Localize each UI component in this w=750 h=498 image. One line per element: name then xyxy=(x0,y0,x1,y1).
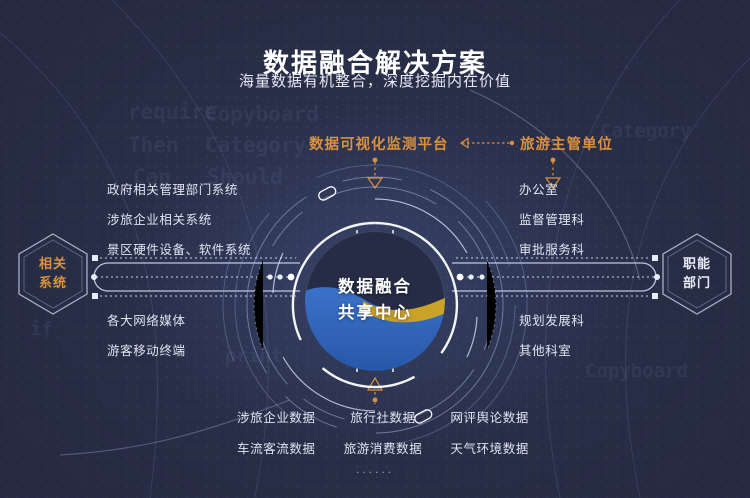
list-right-top: 办公室 监督管理科 审批服务科 xyxy=(519,179,585,269)
list-item[interactable]: 其他科室 xyxy=(519,340,585,359)
hex-badge-functional-departments[interactable]: 职能 部门 xyxy=(660,232,734,316)
list-item[interactable]: 办公室 xyxy=(519,179,585,198)
list-item[interactable]: 旅行社数据 xyxy=(335,407,432,426)
list-item[interactable]: 各大网络媒体 xyxy=(107,310,186,329)
page-subtitle: 海量数据有机整合，深度挖掘内在价值 xyxy=(0,70,750,91)
core-line-2: 共享中心 xyxy=(338,301,412,327)
list-item[interactable]: 政府相关管理部门系统 xyxy=(107,179,251,198)
list-item[interactable]: 车流客流数据 xyxy=(228,438,325,457)
list-item[interactable]: 景区硬件设备、软件系统 xyxy=(107,239,251,258)
list-left-top: 政府相关管理部门系统 涉旅企业相关系统 景区硬件设备、软件系统 xyxy=(107,179,251,269)
bottom-ellipsis: ...... xyxy=(0,462,750,476)
hex-badge-related-systems[interactable]: 相关 系统 xyxy=(16,232,90,316)
label-visualization-platform[interactable]: 数据可视化监测平台 xyxy=(309,133,449,154)
list-item[interactable]: 监督管理科 xyxy=(519,209,585,228)
list-bottom-data-sources: 涉旅企业数据 旅行社数据 网评舆论数据 车流客流数据 旅游消费数据 天气环境数据 xyxy=(228,407,538,457)
list-item[interactable]: 涉旅企业数据 xyxy=(228,407,325,426)
list-left-bottom: 各大网络媒体 游客移动终端 xyxy=(107,310,186,370)
list-item[interactable]: 旅游消费数据 xyxy=(335,438,432,457)
hex-left-line-2: 系统 xyxy=(39,274,67,293)
left-arrow-dotted-icon xyxy=(450,133,516,153)
hex-right-line-2: 部门 xyxy=(683,274,711,293)
core-line-1: 数据融合 xyxy=(338,275,412,301)
list-right-bottom: 规划发展科 其他科室 xyxy=(519,310,585,370)
list-item[interactable]: 涉旅企业相关系统 xyxy=(107,209,251,228)
hex-right-line-1: 职能 xyxy=(683,255,711,274)
list-item[interactable]: 游客移动终端 xyxy=(107,340,186,359)
list-item[interactable]: 规划发展科 xyxy=(519,310,585,329)
hex-left-line-1: 相关 xyxy=(39,255,67,274)
list-item[interactable]: 审批服务科 xyxy=(519,239,585,258)
list-item[interactable]: 网评舆论数据 xyxy=(441,407,538,426)
label-tourism-authority[interactable]: 旅游主管单位 xyxy=(520,133,613,154)
list-item[interactable]: 天气环境数据 xyxy=(441,438,538,457)
core-label: 数据融合 共享中心 xyxy=(305,231,445,371)
